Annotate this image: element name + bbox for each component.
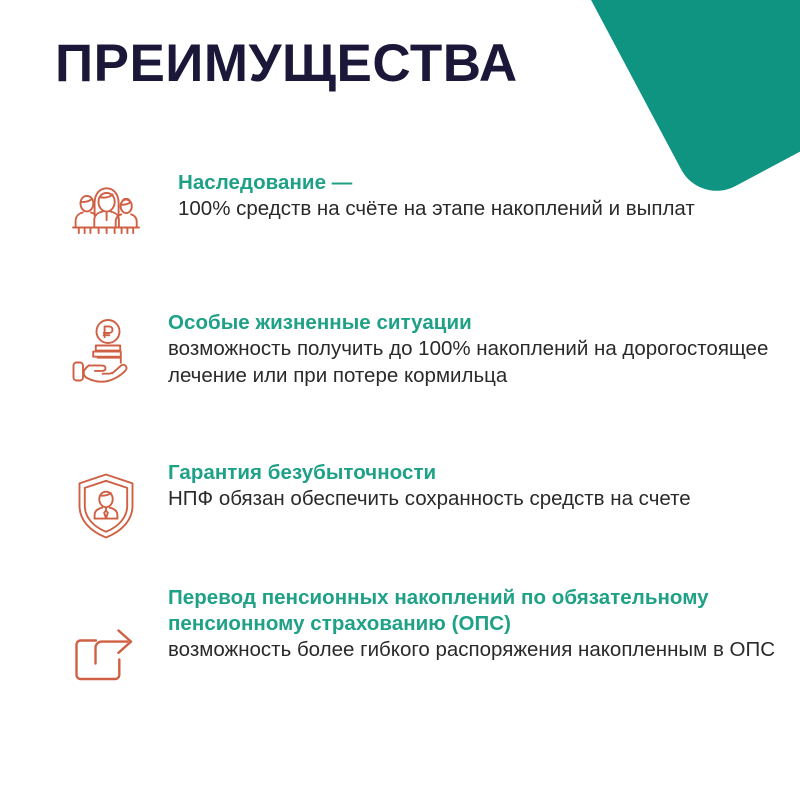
shield-with-person-icon: [58, 460, 154, 542]
feature-heading: Особые жизненные ситуации: [168, 310, 800, 336]
feature-text: Гарантия безубыточности НПФ обязан обесп…: [168, 460, 800, 513]
slide-root: ПРЕИМУЩЕСТВА: [0, 0, 800, 800]
feature-body: НПФ обязан обеспечить сохранность средст…: [168, 486, 800, 513]
feature-text: Особые жизненные ситуации возможность по…: [168, 310, 800, 389]
feature-item: Гарантия безубыточности НПФ обязан обесп…: [0, 460, 800, 542]
page-title: ПРЕИМУЩЕСТВА: [55, 34, 518, 94]
feature-item: Особые жизненные ситуации возможность по…: [0, 310, 800, 390]
feature-item: Перевод пенсионных накоплений по обязате…: [0, 585, 800, 687]
hand-with-coins-ruble-icon: [58, 310, 154, 390]
feature-heading: Гарантия безубыточности: [168, 460, 800, 486]
feature-text: Наследование — 100% средств на счёте на …: [178, 170, 800, 223]
feature-body: возможность более гибкого распоряжения н…: [168, 637, 800, 664]
feature-heading: Перевод пенсионных накоплений по обязате…: [168, 585, 800, 637]
feature-body: возможность получить до 100% накоплений …: [168, 336, 800, 389]
feature-heading: Наследование —: [178, 170, 800, 196]
feature-text: Перевод пенсионных накоплений по обязате…: [168, 585, 800, 664]
export-arrow-icon: [58, 585, 154, 687]
family-icon: [58, 170, 154, 242]
feature-body: 100% средств на счёте на этапе накоплени…: [178, 196, 800, 223]
feature-item: Наследование — 100% средств на счёте на …: [0, 170, 800, 242]
